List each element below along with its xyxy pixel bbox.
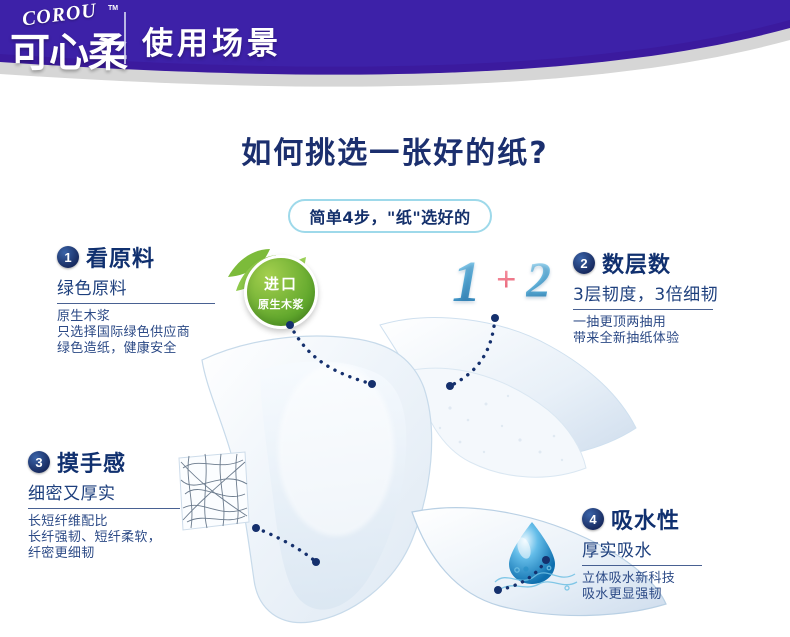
feature-2-body-line-2: 带来全新抽纸体验 [573, 331, 790, 347]
plus-sign-glyph: + [496, 258, 517, 300]
feature-1-title: 看原料 [86, 241, 155, 273]
one-plus-two-graphic: 1 + 2 [452, 248, 562, 314]
feature-block-2: 2 数层数 3层韧度，3倍细韧 一抽更顶两抽用 带来全新抽纸体验 [573, 249, 790, 347]
header-banner: COROU TM 可心柔 使用场景 [0, 0, 790, 92]
feature-block-1: 1 看原料 绿色原料 原生木浆 只选择国际绿色供应商 绿色造纸，健康安全 [57, 243, 287, 357]
feature-3-body: 长短纤维配比 长纤强韧、短纤柔软， 纤密更细韧 [28, 514, 258, 562]
feature-1-body-line-1: 原生木浆 [57, 309, 287, 325]
feature-1-body-line-2: 只选择国际绿色供应商 [57, 325, 287, 341]
brand-chinese-text: 可心柔 [10, 20, 127, 78]
feature-1-rule [57, 303, 215, 304]
feature-3-subtitle: 细密又厚实 [28, 479, 258, 504]
number-one-glyph: 1 [452, 248, 481, 315]
page-title: 如何挑选一张好的纸? [0, 128, 790, 172]
header-title: 使用场景 [142, 18, 282, 63]
feature-2-body: 一抽更顶两抽用 带来全新抽纸体验 [573, 315, 790, 347]
feature-3-body-line-1: 长短纤维配比 [28, 514, 258, 530]
feature-block-4: 4 吸水性 厚实吸水 立体吸水新科技 吸水更显强韧 [582, 505, 790, 603]
feature-4-title: 吸水性 [611, 503, 680, 535]
feature-block-3: 3 摸手感 细密又厚实 长短纤维配比 长纤强韧、短纤柔软， 纤密更细韧 [28, 448, 258, 562]
feature-2-title: 数层数 [602, 247, 671, 279]
feature-4-subtitle: 厚实吸水 [582, 536, 790, 561]
feature-3-body-line-2: 长纤强韧、短纤柔软， [28, 530, 258, 546]
feature-2-rule [573, 309, 713, 310]
water-splash-icon [487, 562, 583, 596]
brand-logo: COROU TM 可心柔 [8, 2, 130, 74]
feature-4-body: 立体吸水新科技 吸水更显强韧 [582, 571, 790, 603]
feature-1-body-line-3: 绿色造纸，健康安全 [57, 341, 287, 357]
feature-4-body-line-1: 立体吸水新科技 [582, 571, 790, 587]
feature-2-body-line-1: 一抽更顶两抽用 [573, 315, 790, 331]
feature-4-heading: 4 吸水性 [582, 505, 790, 533]
feature-4-body-line-2: 吸水更显强韧 [582, 587, 790, 603]
feature-1-subtitle: 绿色原料 [57, 274, 287, 299]
feature-2-number-badge: 2 [573, 252, 595, 274]
feature-3-body-line-3: 纤密更细韧 [28, 546, 258, 562]
subtitle-pill: 简单4步，"纸"选好的 [288, 199, 492, 233]
feature-1-number-badge: 1 [57, 246, 79, 268]
feature-3-number-badge: 3 [28, 451, 50, 473]
feature-3-rule [28, 508, 180, 509]
feature-2-heading: 2 数层数 [573, 249, 790, 277]
feature-3-heading: 3 摸手感 [28, 448, 258, 476]
brand-trademark-mark: TM [108, 5, 118, 12]
header-divider [124, 12, 126, 64]
promo-infographic-page: COROU TM 可心柔 使用场景 如何挑选一张好的纸? 简单4步，"纸"选好的 [0, 0, 790, 637]
feature-2-subtitle: 3层韧度，3倍细韧 [573, 280, 790, 305]
feature-1-heading: 1 看原料 [57, 243, 287, 271]
feature-1-body: 原生木浆 只选择国际绿色供应商 绿色造纸，健康安全 [57, 309, 287, 357]
feature-4-rule [582, 565, 702, 566]
feature-3-title: 摸手感 [57, 446, 126, 478]
number-two-glyph: 2 [526, 250, 551, 308]
feature-4-number-badge: 4 [582, 508, 604, 530]
